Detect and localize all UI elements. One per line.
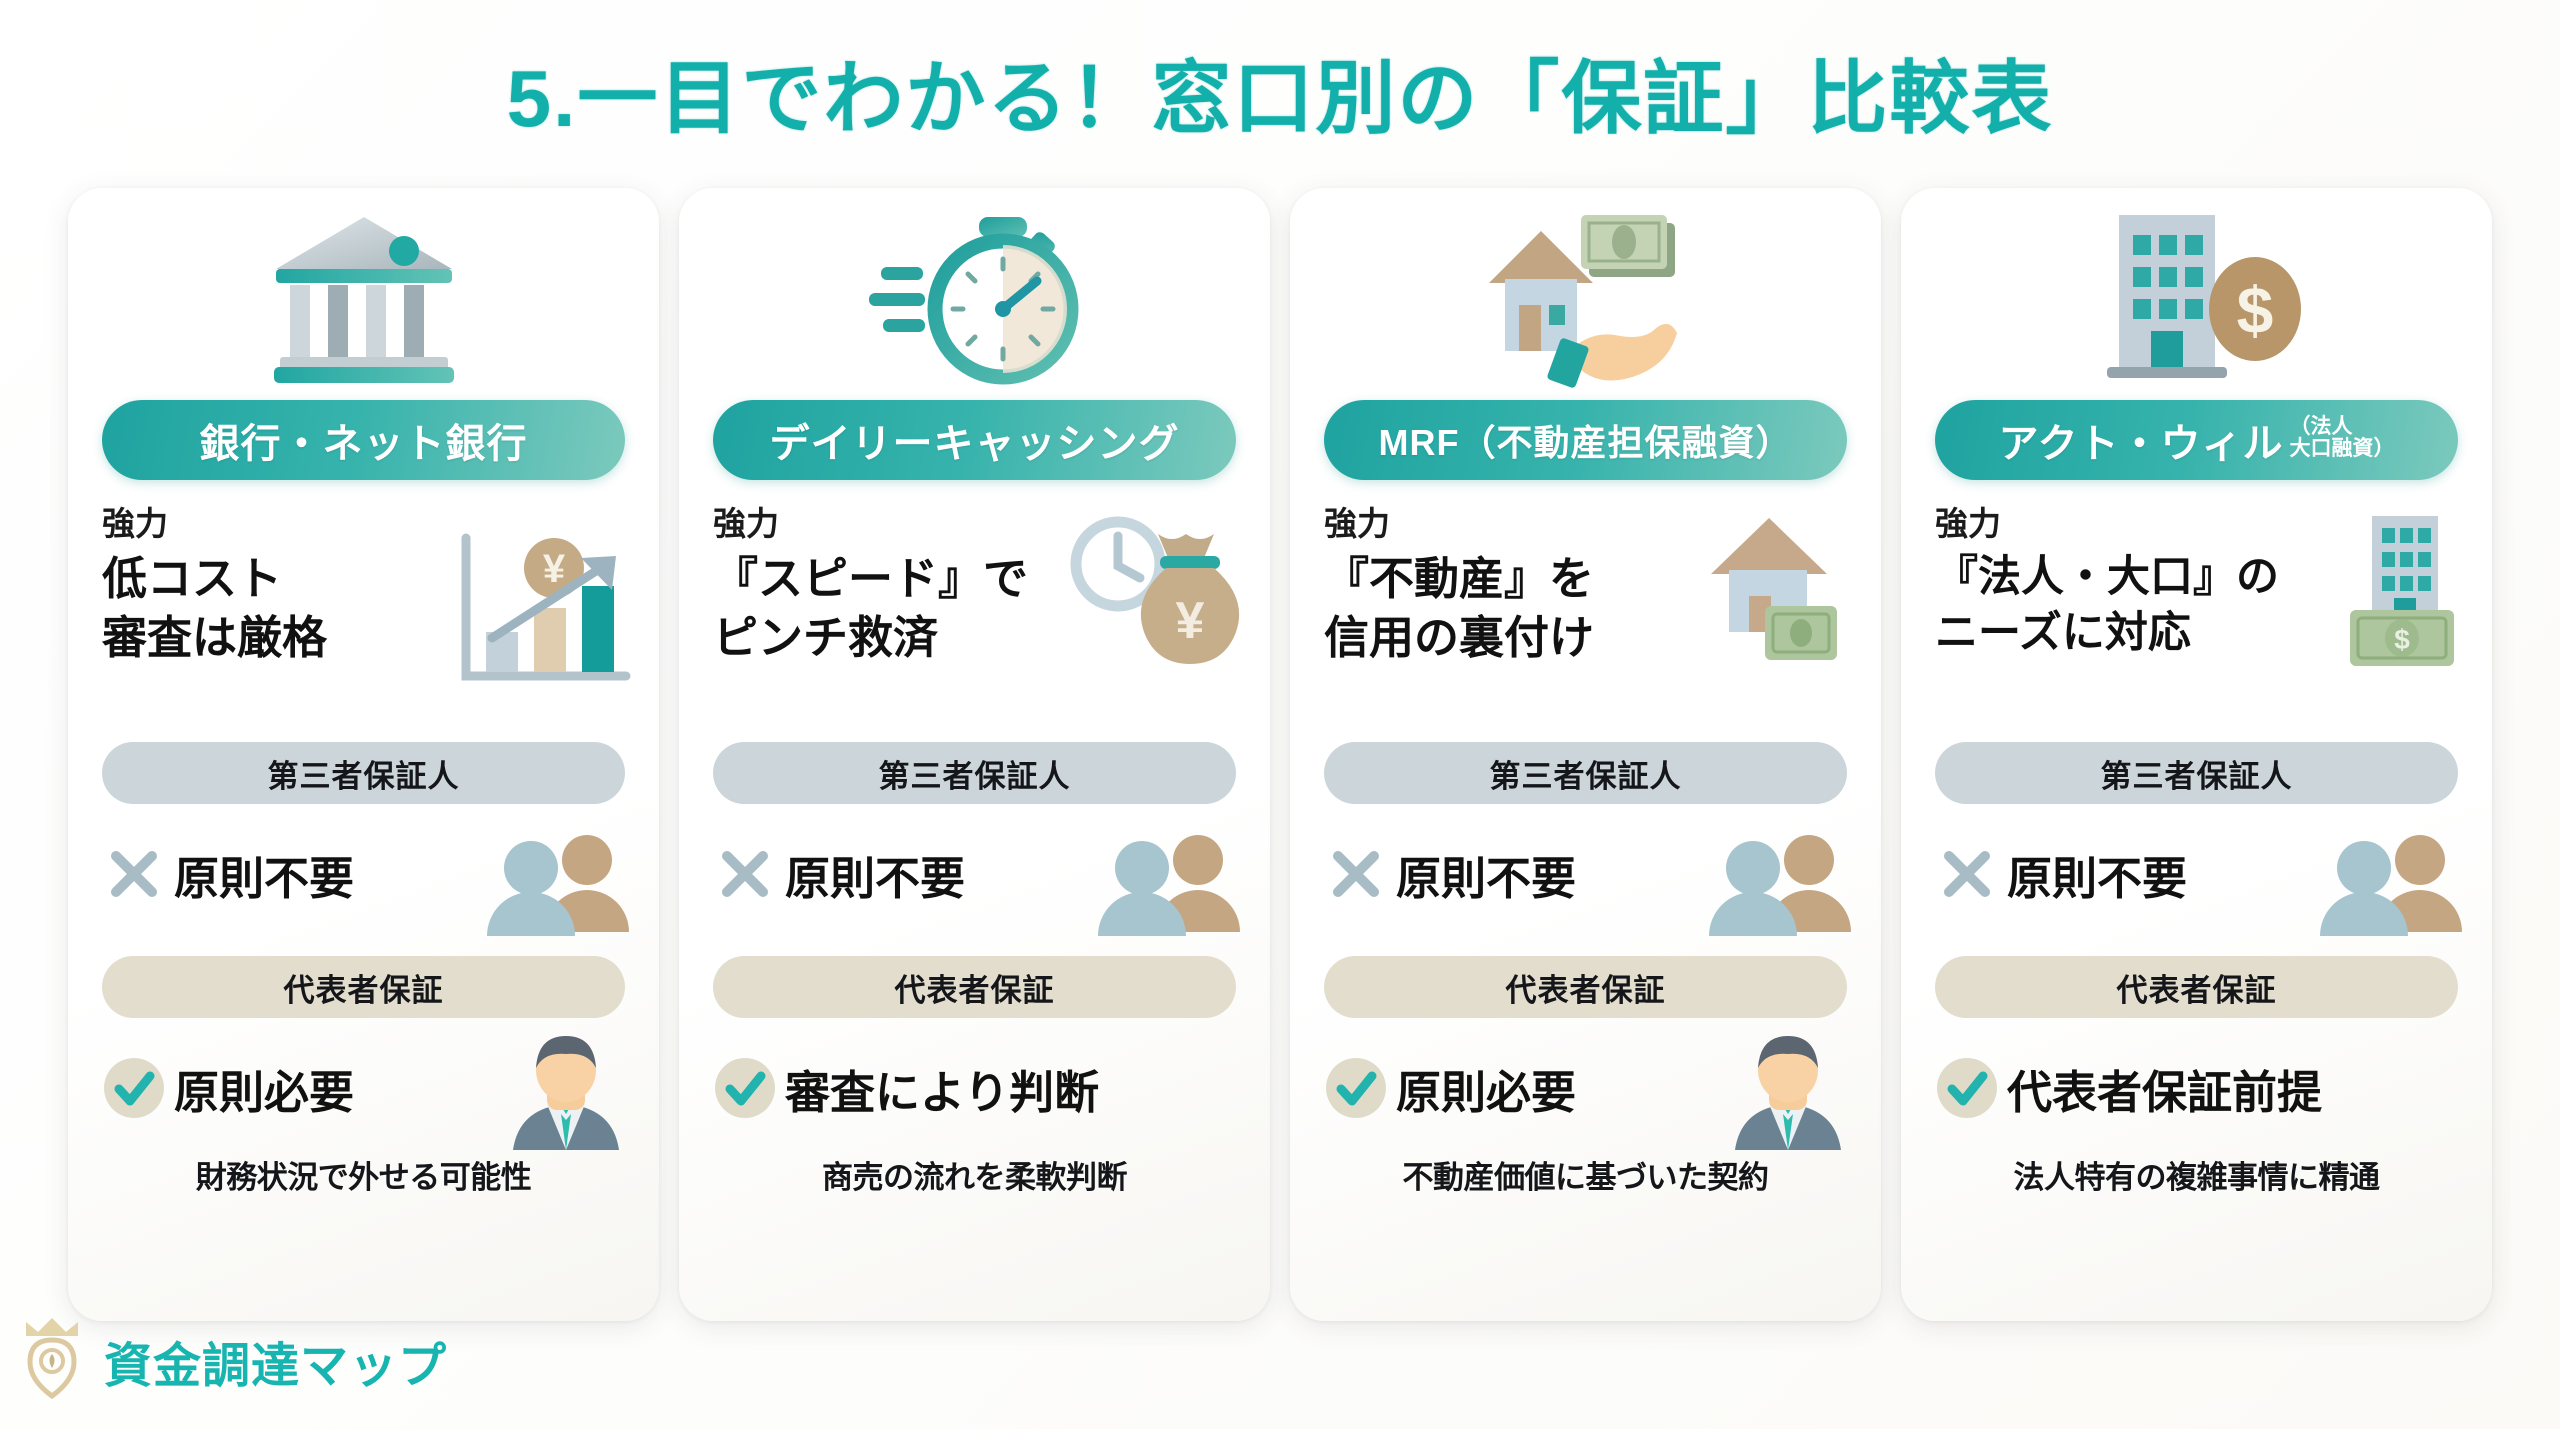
third-party-band: 第三者保証人	[102, 742, 625, 804]
card-note: 財務状況で外せる可能性	[102, 1152, 625, 1197]
comparison-card: $ アクト・ウィル （法人 大口融資） 強力 『法人・大口』の ニーズに対応	[1901, 188, 2492, 1321]
representative-band-label: 代表者保証	[284, 965, 444, 1010]
provider-pill[interactable]: MRF（不動産担保融資）	[1324, 400, 1847, 480]
third-party-band-label: 第三者保証人	[268, 751, 460, 796]
card-illustration	[713, 188, 1236, 396]
strength-art: ¥	[1062, 512, 1242, 677]
representative-band: 代表者保証	[1324, 956, 1847, 1018]
house-banknote-icon	[1691, 510, 1861, 670]
comparison-card: 銀行・ネット銀行 強力 低コスト 審査は厳格 ¥	[68, 188, 659, 1321]
businessman-icon	[503, 1034, 629, 1150]
representative-band-label: 代表者保証	[2117, 965, 2277, 1010]
provider-pill[interactable]: 銀行・ネット銀行	[102, 400, 625, 480]
third-party-band-label: 第三者保証人	[1490, 751, 1682, 796]
svg-text:¥: ¥	[1176, 592, 1205, 650]
third-party-verdict-text: 原則不要	[1396, 842, 1576, 907]
strength-block: 強力 低コスト 審査は厳格 ¥	[102, 506, 625, 716]
representative-verdict: 審査により判断	[713, 1040, 1236, 1136]
representative-band: 代表者保証	[1935, 956, 2458, 1018]
provider-name: MRF（不動産担保融資）	[1379, 414, 1793, 466]
check-icon	[1935, 1057, 1999, 1119]
svg-text:$: $	[2237, 273, 2274, 347]
office-building-dollar-icon: $	[2089, 205, 2304, 390]
third-party-verdict: 原則不要	[1935, 826, 2458, 922]
representative-band-label: 代表者保証	[895, 965, 1055, 1010]
check-icon	[1324, 1057, 1388, 1119]
provider-name: アクト・ウィル	[1999, 411, 2284, 469]
strength-art	[1691, 510, 1861, 670]
check-icon	[713, 1057, 777, 1119]
building-banknote-icon: $	[2328, 510, 2478, 670]
clock-moneybag-yen-icon: ¥	[1062, 512, 1242, 677]
brand-name: 資金調達マップ	[104, 1326, 447, 1396]
representative-verdict-text: 代表者保証前提	[2007, 1056, 2322, 1121]
card-illustration	[102, 188, 625, 396]
representative-verdict: 原則必要	[102, 1040, 625, 1136]
cross-icon	[102, 847, 166, 901]
infographic-page: 5.一目でわかる！窓口別の「保証」比較表	[0, 0, 2560, 1429]
representative-verdict-text: 原則必要	[1396, 1056, 1576, 1121]
comparison-card: デイリーキャッシング 強力 『スピード』で ピンチ救済 ¥	[679, 188, 1270, 1321]
comparison-card-row: 銀行・ネット銀行 強力 低コスト 審査は厳格 ¥	[68, 188, 2492, 1321]
two-people-icon	[1701, 832, 1851, 936]
third-party-band: 第三者保証人	[1324, 742, 1847, 804]
two-people-icon	[479, 832, 629, 936]
third-party-band: 第三者保証人	[1935, 742, 2458, 804]
representative-band: 代表者保証	[713, 956, 1236, 1018]
third-party-verdict: 原則不要	[102, 826, 625, 922]
cross-icon	[713, 847, 777, 901]
card-illustration: $	[1935, 188, 2458, 396]
two-people-icon	[2312, 832, 2462, 936]
page-title-wrap: 5.一目でわかる！窓口別の「保証」比較表	[0, 34, 2560, 150]
representative-verdict: 代表者保証前提	[1935, 1040, 2458, 1136]
third-party-verdict-text: 原則不要	[785, 842, 965, 907]
house-hand-cash-icon	[1471, 205, 1701, 390]
representative-band-label: 代表者保証	[1506, 965, 1666, 1010]
provider-name-superscript: （法人 大口融資）	[2290, 416, 2395, 460]
representative-verdict: 原則必要	[1324, 1040, 1847, 1136]
representative-verdict-text: 審査により判断	[785, 1056, 1099, 1121]
bar-chart-yen-icon: ¥	[450, 528, 635, 693]
card-note: 不動産価値に基づいた契約	[1324, 1152, 1847, 1197]
card-note: 法人特有の複雑事情に精通	[1935, 1152, 2458, 1197]
card-illustration	[1324, 188, 1847, 396]
businessman-icon	[1725, 1034, 1851, 1150]
provider-name: 銀行・ネット銀行	[200, 411, 528, 469]
third-party-verdict: 原則不要	[1324, 826, 1847, 922]
third-party-band: 第三者保証人	[713, 742, 1236, 804]
cross-icon	[1935, 847, 1999, 901]
stopwatch-icon	[867, 205, 1082, 390]
page-title: 5.一目でわかる！窓口別の「保証」比較表	[507, 34, 2054, 150]
provider-sup-line: （法人	[2290, 416, 2395, 438]
bank-building-icon	[264, 205, 464, 390]
svg-text:¥: ¥	[543, 547, 566, 591]
strength-block: 強力 『法人・大口』の ニーズに対応	[1935, 506, 2458, 716]
third-party-verdict-text: 原則不要	[2007, 842, 2187, 907]
strength-block: 強力 『不動産』を 信用の裏付け	[1324, 506, 1847, 716]
crowned-map-pin-icon	[16, 1316, 88, 1405]
provider-name: デイリーキャッシング	[770, 411, 1180, 469]
strength-art: ¥	[450, 528, 635, 693]
check-icon	[102, 1057, 166, 1119]
third-party-verdict: 原則不要	[713, 826, 1236, 922]
svg-text:$: $	[2394, 624, 2410, 655]
two-people-icon	[1090, 832, 1240, 936]
comparison-card: MRF（不動産担保融資） 強力 『不動産』を 信用の裏付け	[1290, 188, 1881, 1321]
cross-icon	[1324, 847, 1388, 901]
representative-band: 代表者保証	[102, 956, 625, 1018]
third-party-band-label: 第三者保証人	[879, 751, 1071, 796]
third-party-band-label: 第三者保証人	[2101, 751, 2293, 796]
footer-brand: 資金調達マップ	[16, 1316, 447, 1405]
provider-sup-line: 大口融資）	[2290, 438, 2395, 460]
strength-art: $	[2328, 510, 2478, 670]
card-note: 商売の流れを柔軟判断	[713, 1152, 1236, 1197]
representative-verdict-text: 原則必要	[174, 1056, 354, 1121]
third-party-verdict-text: 原則不要	[174, 842, 354, 907]
strength-block: 強力 『スピード』で ピンチ救済 ¥	[713, 506, 1236, 716]
provider-pill[interactable]: アクト・ウィル （法人 大口融資）	[1935, 400, 2458, 480]
provider-pill[interactable]: デイリーキャッシング	[713, 400, 1236, 480]
